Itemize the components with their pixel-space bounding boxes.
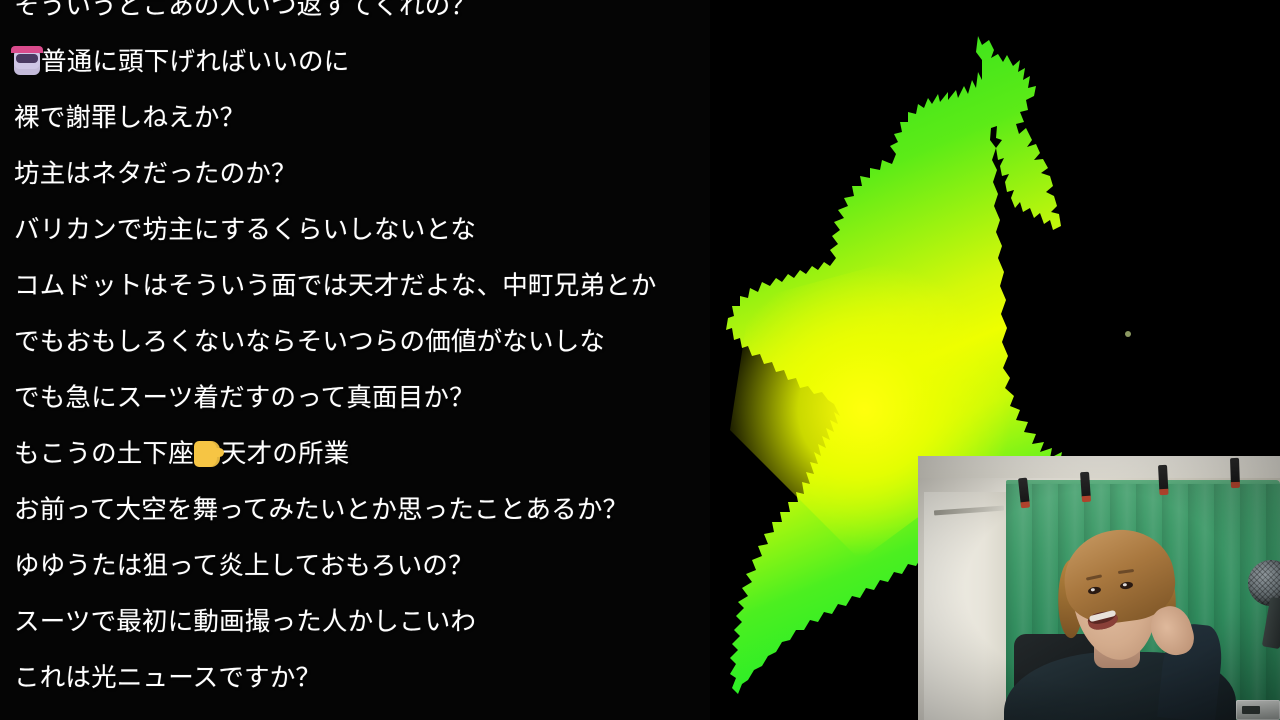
eye-highlight-left [1091,588,1095,592]
chat-message-text: でも急にスーツ着だすのって真面目か？ [14,384,475,412]
stream-canvas: そういうとこあの人いつ返すてくれの？普通に頭下げればいいのに裸で謝罪しねえか？坊… [0,0,1280,720]
chat-message-text: 坊主はネタだったのか？ [14,160,297,188]
chat-message-text: バリカンで坊主にするくらいしないとな [14,216,476,244]
binder-clip-2 [1080,472,1091,499]
chat-message-text: お前って大空を舞ってみたいとか思ったことあるか？ [14,496,628,524]
binder-clip-3 [1158,465,1168,491]
chat-message-text: ゆゆうたは狙って炎上しておもろいの？ [14,552,474,580]
chat-message: バリカンで坊主にするくらいしないとな [0,202,710,258]
chat-message-text: コムドットはそういう面では天才だよな、中町兄弟とか [14,272,657,300]
chat-message-text: 裸で謝罪しねえか？ [14,104,245,132]
desk-device [1236,700,1280,720]
chat-message: 裸で謝罪しねえか？ [0,90,710,146]
chat-message-text: もこうの土下座 [14,440,194,468]
chat-message: 普通に頭下げればいいのに [0,34,710,90]
binder-clip-4 [1230,458,1240,484]
chat-message: ゆゆうたは狙って炎上しておもろいの？ [0,538,710,594]
chat-message: そういうとこあの人いつ返すてくれの？ [0,0,710,34]
chat-message: これは光ニュースですか？ [0,650,710,706]
chat-message-text: でもおもしろくないならそいつらの価値がないしな [14,328,605,356]
chat-message: お前って大空を舞ってみたいとか思ったことあるか？ [0,482,710,538]
chat-message-text: これは光ニュースですか？ [14,664,321,692]
island-dot [1125,331,1131,337]
chat-message: 坊主はネタだったのか？ [0,146,710,202]
chat-message-text: そういうとこあの人いつ返すてくれの？ [14,0,476,20]
chat-message: でもおもしろくないならそいつらの価値がないしな [0,314,710,370]
streamer-facecam[interactable] [918,456,1280,720]
chat-message: コムドットはそういう面では天才だよな、中町兄弟とか [0,258,710,314]
chat-message-text: スーツで最初に動画撮った人かしこいわ [14,608,476,636]
chat-message-list[interactable]: そういうとこあの人いつ返すてくれの？普通に頭下げればいいのに裸で謝罪しねえか？坊… [0,0,710,706]
chat-message-text-cont: 天才の所業 [221,440,350,468]
point-right-icon [194,441,220,467]
chat-message: でも急にスーツ着だすのって真面目か？ [0,370,710,426]
live-chat-panel: そういうとこあの人いつ返すてくれの？普通に頭下げればいいのに裸で謝罪しねえか？坊… [0,0,710,720]
chat-message: スーツで最初に動画撮った人かしこいわ [0,594,710,650]
wall-ceiling-strip [918,456,1280,478]
chat-message: もこうの土下座天才の所業 [0,426,710,482]
chat-message-text: 普通に頭下げればいいのに [41,48,349,76]
eye-highlight-right [1123,583,1127,587]
robot-face-icon [14,49,40,75]
room-door [924,492,1010,720]
